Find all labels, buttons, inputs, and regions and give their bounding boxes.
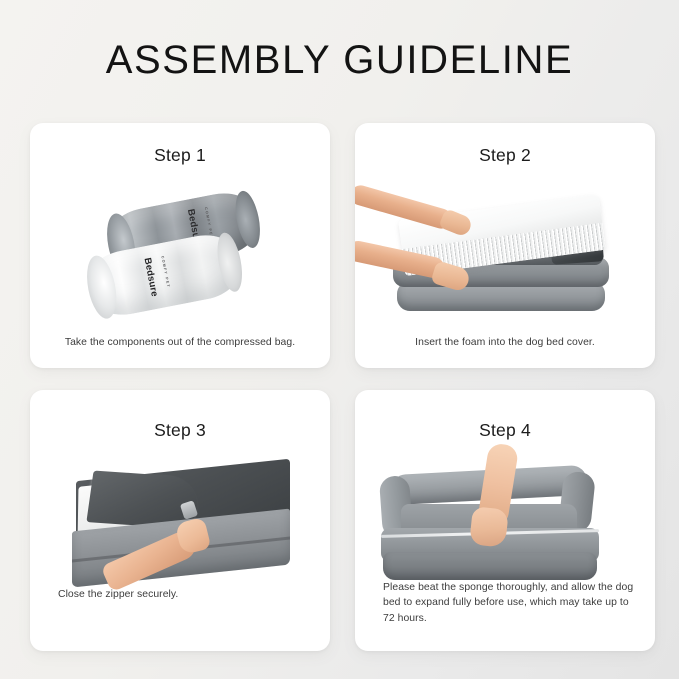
- step-3-caption: Close the zipper securely.: [58, 587, 306, 603]
- step-card-3: Step 3 Close the zipper securely.: [30, 390, 330, 651]
- step-2-heading: Step 2: [355, 145, 655, 166]
- step-card-4: Step 4 Please beat the sponge thoroughly…: [355, 390, 655, 651]
- roll-brand-label-white: Bedsure: [142, 257, 160, 298]
- page-title: ASSEMBLY GUIDELINE: [0, 40, 679, 80]
- step-1-illustration: Bedsure COMFY PET Bedsure COMFY PET: [30, 175, 330, 323]
- step-card-2: Step 2 Insert the foam into the dog bed …: [355, 123, 655, 368]
- bed-base: [383, 552, 597, 580]
- step-2-caption: Insert the foam into the dog bed cover.: [373, 335, 637, 351]
- step-1-caption: Take the components out of the compresse…: [48, 335, 312, 351]
- compressed-rolls-graphic: Bedsure COMFY PET Bedsure COMFY PET: [30, 175, 330, 323]
- roll-subbrand-label-white: COMFY PET: [160, 256, 170, 289]
- step-4-heading: Step 4: [355, 420, 655, 441]
- step-3-heading: Step 3: [30, 420, 330, 441]
- step-2-illustration: [355, 175, 655, 323]
- step-1-heading: Step 1: [30, 145, 330, 166]
- steps-grid: Step 1 Bedsure COMFY PET Bedsure COMFY P…: [30, 123, 655, 651]
- step-4-caption: Please beat the sponge thoroughly, and a…: [383, 580, 635, 627]
- foam-insertion-graphic: [355, 175, 655, 323]
- step-card-1: Step 1 Bedsure COMFY PET Bedsure COMFY P…: [30, 123, 330, 368]
